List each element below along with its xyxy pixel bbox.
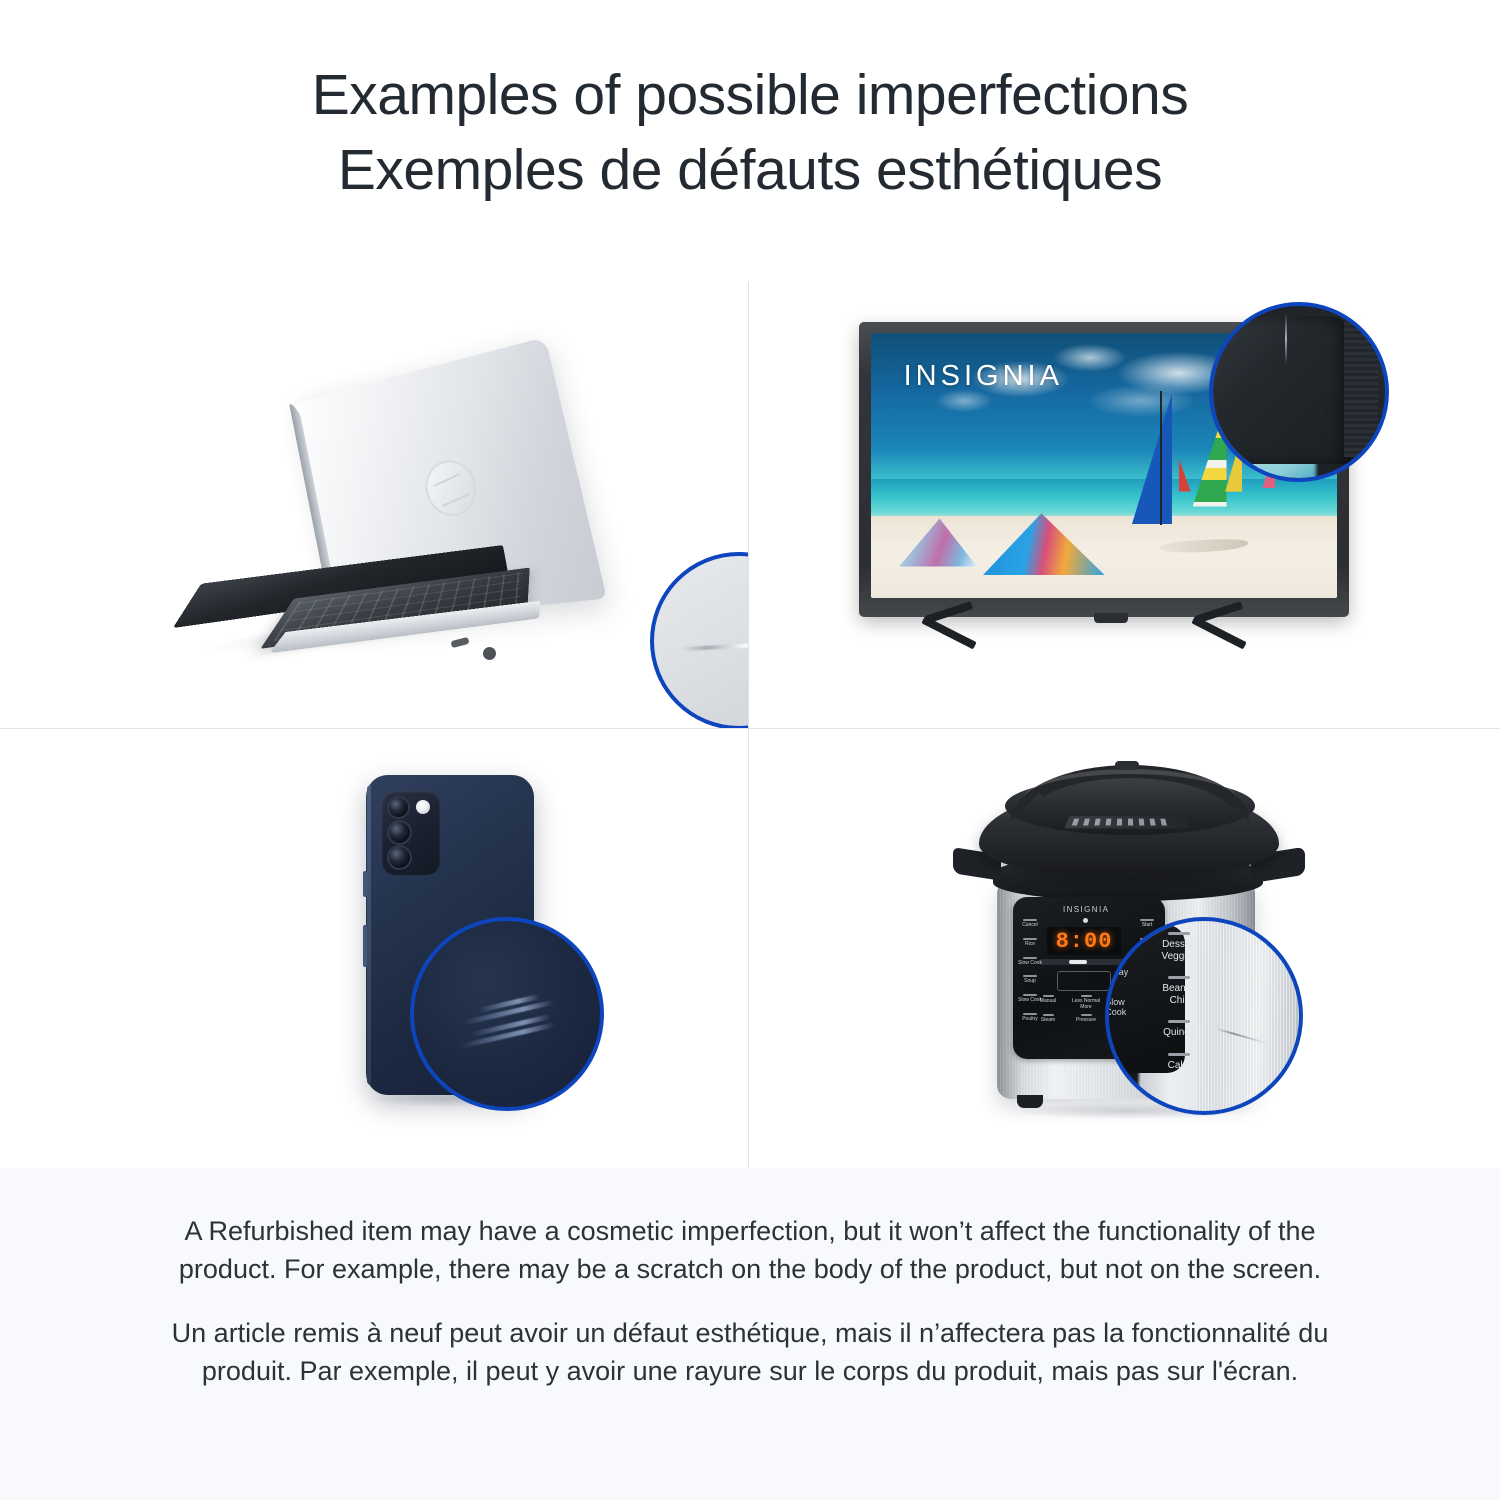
refurbished-imperfections-infographic: Examples of possible imperfections Exemp…	[0, 0, 1500, 1500]
product-examples-grid: INSIGNIA	[0, 282, 1500, 1168]
phone-flash-icon	[416, 800, 430, 814]
cooker-magnified-button-label: Beans / Chili	[1162, 983, 1196, 1006]
cooker-button[interactable]: Rice	[1017, 938, 1043, 948]
cooker-button[interactable]: Cancel	[1017, 919, 1043, 929]
dell-logo-icon	[418, 452, 485, 524]
cooker-brand-label: INSIGNIA	[1063, 905, 1109, 914]
phone-camera-lens-3	[389, 847, 410, 868]
cooker-magnified-label: Slow Cook	[1105, 997, 1147, 1017]
cooker-button[interactable]: Less Normal More	[1071, 995, 1101, 1010]
cooker-button[interactable]: Slow Cook	[1017, 957, 1043, 967]
laptop-usb-port	[450, 637, 469, 648]
phone-camera-lens-1	[389, 798, 408, 817]
cooker-lid-handle-highlight	[1023, 769, 1237, 800]
tv-magnifier-circle	[1209, 302, 1389, 482]
phone-magnifier-circle	[410, 917, 604, 1111]
tv-magnified-bezel	[1209, 316, 1351, 464]
panel-tv: INSIGNIA	[749, 282, 1500, 728]
title-french: Exemples de défauts esthétiques	[0, 133, 1500, 208]
cooker-button[interactable]: Manual	[1033, 995, 1063, 1010]
cooker-button-label: Less Normal More	[1072, 998, 1100, 1010]
cooker-indicator-light	[1083, 918, 1088, 923]
cooker-magnified-button[interactable]: Cake	[1155, 1053, 1204, 1072]
cooker-magnified-button-label: Cake	[1168, 1060, 1191, 1071]
cooker-foot-left	[1017, 1095, 1043, 1108]
laptop-base	[183, 527, 583, 657]
cooker-button-label: Pressure	[1076, 1017, 1096, 1023]
cooker-button-label: Soup	[1024, 978, 1036, 984]
tv-image: INSIGNIA	[859, 322, 1379, 692]
title-english: Examples of possible imperfections	[0, 58, 1500, 133]
phone-camera-lens-2	[389, 822, 410, 843]
phone-power-button	[363, 925, 367, 967]
cooker-magnified-button[interactable]: Beans / Chili	[1155, 976, 1204, 1006]
caption-french: Un article remis à neuf peut avoir un dé…	[170, 1314, 1330, 1390]
tv-scratch	[1285, 313, 1287, 365]
phone-volume-button	[363, 871, 367, 897]
panel-phone	[0, 729, 748, 1168]
cooker-magnifier-circle: Delay Slow Cook Dessert Veggies Beans / …	[1105, 917, 1303, 1115]
laptop-magnifier-circle	[650, 552, 748, 728]
page-title: Examples of possible imperfections Exemp…	[0, 58, 1500, 208]
laptop-image	[185, 367, 605, 657]
cooker-magnified-button[interactable]: Dessert Veggies	[1155, 932, 1204, 962]
cooker-magnified-label: Delay	[1105, 967, 1147, 977]
cooker-steam-valve[interactable]	[1115, 761, 1139, 770]
tv-screen-logo: INSIGNIA	[904, 360, 1063, 393]
tv-magnified-edge	[1344, 316, 1378, 457]
cooker-mini-readout	[1057, 971, 1111, 991]
cooker-button-label: Steam	[1041, 1017, 1055, 1023]
panel-laptop	[0, 282, 748, 728]
cooker-button[interactable]: Steam	[1033, 1014, 1063, 1024]
cooker-magnified-brushed-steel	[1196, 921, 1299, 1111]
cooker-display-value: 8:00	[1056, 929, 1113, 954]
cooker-button[interactable]: Soup	[1017, 975, 1043, 985]
cooker-image: INSIGNIA 8:00 Cancel Rice Slow Cook Soup	[939, 759, 1359, 1139]
phone-side-edge	[367, 785, 371, 1085]
tv-ir-receiver	[1094, 613, 1128, 623]
cooker-magnified-button-label: Dessert Veggies	[1161, 939, 1197, 962]
cooker-button-label: Slow Cook	[1018, 960, 1042, 966]
cooker-magnified-left-labels: Delay Slow Cook	[1105, 967, 1147, 1037]
tv-leg-right	[1189, 616, 1285, 668]
phone-camera-module	[382, 791, 440, 875]
caption-english: A Refurbished item may have a cosmetic i…	[170, 1212, 1330, 1288]
cooker-button-label: Cancel	[1022, 922, 1038, 928]
cooker-button-label: Rice	[1025, 941, 1035, 947]
phone-image	[296, 775, 636, 1135]
cooker-magnified-button[interactable]: Quinoa	[1155, 1020, 1204, 1039]
cooker-button-label: Manual	[1040, 998, 1056, 1004]
tv-leg-left	[919, 616, 1015, 668]
laptop-round-port	[482, 646, 498, 662]
cooker-button[interactable]: Pressure	[1071, 1014, 1101, 1024]
cooker-magnified-button-label: Quinoa	[1163, 1027, 1195, 1038]
caption-section: A Refurbished item may have a cosmetic i…	[0, 1168, 1500, 1500]
panel-pressure-cooker: INSIGNIA 8:00 Cancel Rice Slow Cook Soup	[749, 729, 1500, 1168]
cooker-magnified-buttons: Dessert Veggies Beans / Chili Quinoa Cak…	[1155, 932, 1204, 1085]
tv-mast	[1160, 391, 1162, 525]
laptop-scratch	[681, 641, 748, 651]
